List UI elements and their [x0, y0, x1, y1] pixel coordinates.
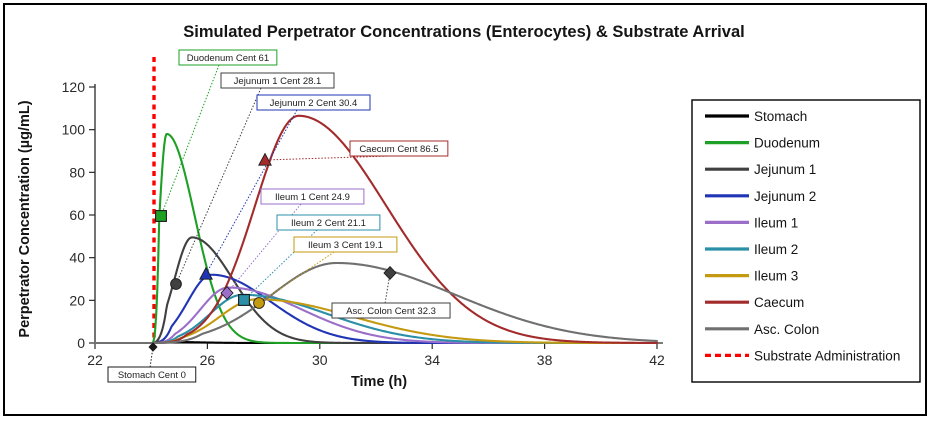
callout-label: Stomach Cent 0 — [118, 370, 186, 381]
y-axis-title: Perpetrator Concentration (µg/mL) — [17, 100, 33, 337]
chart-frame: Simulated Perpetrator Concentrations (En… — [3, 3, 927, 416]
y-tick-label: 120 — [62, 79, 86, 95]
callout-label: Jejunum 1 Cent 28.1 — [234, 76, 322, 87]
legend-label: Ileum 1 — [754, 215, 798, 230]
callout-leader-line — [259, 252, 334, 303]
y-tick-label: 0 — [77, 335, 85, 351]
x-tick-label: 22 — [87, 352, 103, 368]
x-tick-label: 34 — [424, 352, 440, 368]
legend-label: Asc. Colon — [754, 322, 819, 337]
x-axis-title: Time (h) — [351, 374, 407, 390]
callout-label: Ileum 1 Cent 24.9 — [275, 192, 350, 203]
legend-label: Ileum 3 — [754, 269, 798, 284]
callout-asccolon: Asc. Colon Cent 32.3 — [332, 273, 450, 318]
legend-label: Caecum — [754, 295, 804, 310]
callout-label: Ileum 2 Cent 21.1 — [291, 218, 366, 229]
y-tick-label: 100 — [62, 122, 86, 138]
y-axis: 020406080100120 — [62, 79, 95, 351]
series-marker — [156, 211, 167, 222]
legend-label: Ileum 2 — [754, 242, 798, 257]
legend-label: Stomach — [754, 109, 807, 124]
series-marker — [254, 298, 265, 309]
callout-caecum: Caecum Cent 86.5 — [265, 141, 448, 160]
callout-label: Caecum Cent 86.5 — [359, 144, 438, 155]
series-marker — [171, 279, 182, 290]
y-tick-label: 80 — [69, 164, 85, 180]
callout-stomach: Stomach Cent 0 — [108, 347, 196, 382]
y-tick-label: 60 — [69, 207, 85, 223]
series-marker — [200, 268, 212, 280]
chart-title: Simulated Perpetrator Concentrations (En… — [183, 23, 744, 41]
callout-leader-line — [265, 156, 390, 160]
chart-legend: StomachDuodenumJejunum 1Jejunum 2Ileum 1… — [692, 100, 920, 382]
y-tick-label: 20 — [69, 292, 85, 308]
simulated-perpetrator-concentration-chart: Simulated Perpetrator Concentrations (En… — [5, 5, 925, 414]
legend-label: Substrate Administration — [754, 348, 900, 363]
legend-label: Jejunum 1 — [754, 162, 816, 177]
legend-label: Duodenum — [754, 136, 820, 151]
series-line-jejunum-1 — [95, 237, 657, 343]
callout-ileum3: Ileum 3 Cent 19.1 — [259, 237, 397, 303]
callout-label: Asc. Colon Cent 32.3 — [346, 306, 436, 317]
series-marker — [149, 343, 157, 351]
series-marker — [239, 295, 250, 306]
x-axis: 222630343842 — [87, 343, 665, 368]
y-tick-label: 40 — [69, 250, 85, 266]
x-tick-label: 30 — [312, 352, 328, 368]
legend-label: Jejunum 2 — [754, 189, 816, 204]
series-marker — [384, 267, 396, 280]
x-tick-label: 38 — [537, 352, 553, 368]
x-tick-label: 42 — [649, 352, 665, 368]
callout-ileum2: Ileum 2 Cent 21.1 — [244, 215, 380, 300]
callout-label: Jejunum 2 Cent 30.4 — [270, 98, 358, 109]
callout-label: Duodenum Cent 61 — [187, 53, 269, 64]
x-tick-label: 26 — [200, 352, 216, 368]
callout-label: Ileum 3 Cent 19.1 — [308, 240, 383, 251]
